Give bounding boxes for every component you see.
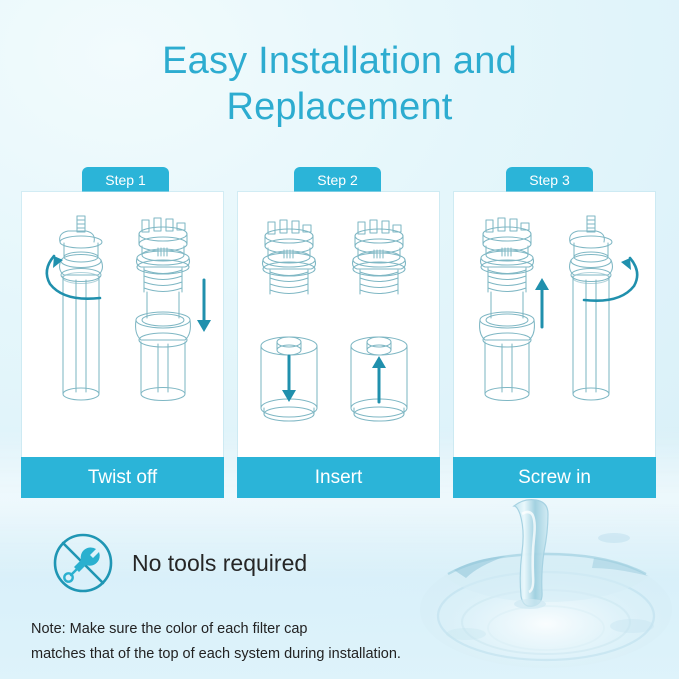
step-caption-3: Screw in — [453, 457, 656, 498]
step-caption-label: Screw in — [518, 467, 591, 489]
step-badge-3: Step 3 — [506, 167, 593, 192]
installation-note: Note: Make sure the color of each filter… — [31, 617, 401, 667]
page-title: Easy Installation and Replacement — [0, 38, 679, 130]
step-caption-label: Twist off — [88, 467, 157, 489]
no-tools-icon — [52, 532, 114, 594]
step-badge-label: Step 1 — [105, 172, 145, 188]
water-droplet-graphic — [418, 498, 679, 679]
step-2-illustration — [238, 192, 439, 457]
step-3-illustration — [454, 192, 655, 457]
step-caption-label: Insert — [315, 467, 363, 489]
step-panel-2 — [238, 192, 439, 457]
step-panel-3 — [454, 192, 655, 457]
step-1-illustration — [22, 192, 223, 457]
no-tools-label: No tools required — [132, 550, 307, 577]
step-caption-2: Insert — [237, 457, 440, 498]
no-tools-row: No tools required — [52, 532, 307, 594]
step-badge-2: Step 2 — [294, 167, 381, 192]
step-badge-label: Step 2 — [317, 172, 357, 188]
step-badge-label: Step 3 — [529, 172, 569, 188]
step-badge-1: Step 1 — [82, 167, 169, 192]
step-panel-1 — [22, 192, 223, 457]
step-caption-1: Twist off — [21, 457, 224, 498]
infographic-canvas: Easy Installation and Replacement Step 1… — [0, 0, 679, 679]
